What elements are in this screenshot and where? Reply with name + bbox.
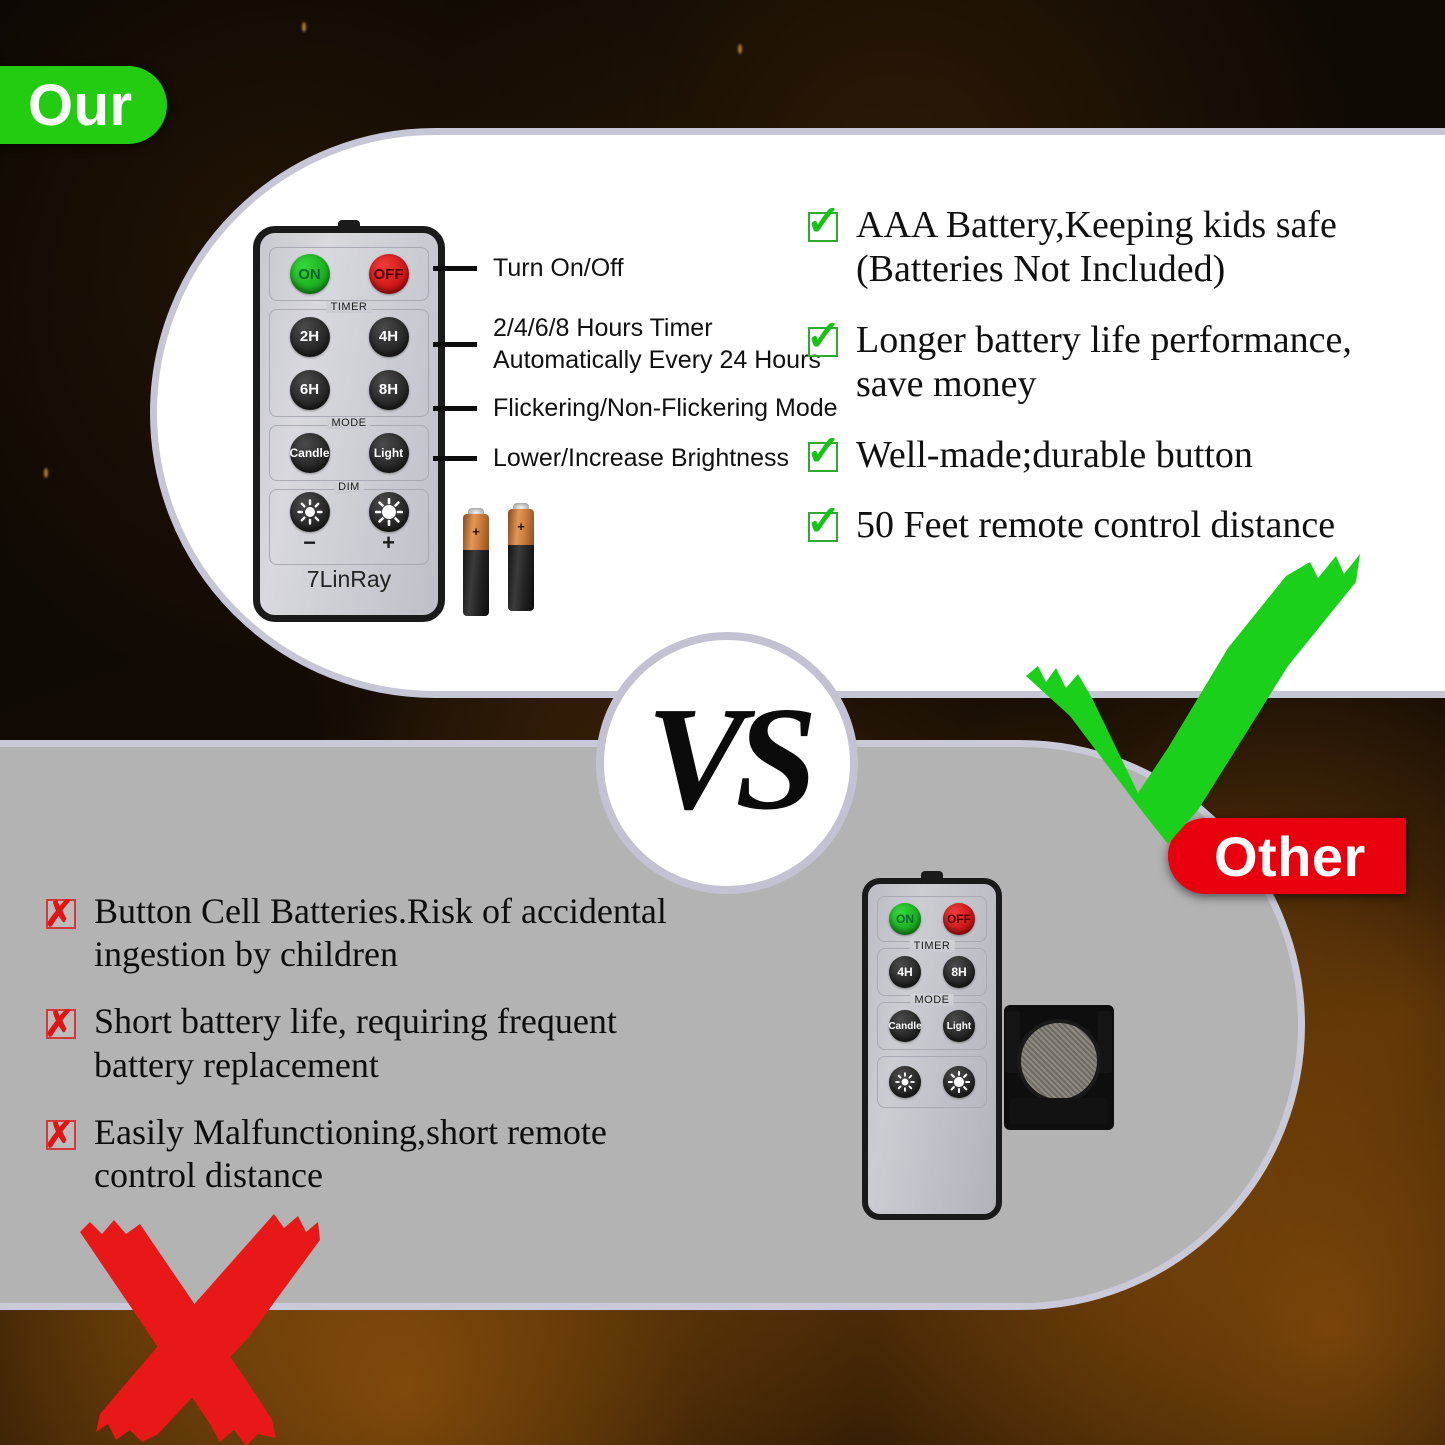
holder-foot	[1010, 1098, 1108, 1124]
callout-leader-line	[433, 406, 477, 411]
callout-line: Flickering/Non-Flickering Mode	[493, 393, 838, 425]
timer-group: TIMER 4H 8H	[877, 948, 987, 996]
remote-ir-nub	[338, 220, 360, 229]
con-line: Easily Malfunctioning,short remote	[94, 1111, 607, 1154]
feature-line: Longer battery life performance,	[856, 318, 1352, 362]
dim-up-button[interactable]	[943, 1066, 975, 1098]
green-check-brush-icon	[1018, 548, 1368, 858]
checkbox-check-icon: ✓	[806, 509, 844, 545]
power-group: ON OFF	[269, 247, 429, 301]
callout-leader-line	[433, 456, 477, 461]
list-item: ✓ 50 Feet remote control distance	[806, 503, 1436, 547]
dim-group: DIM	[269, 489, 429, 565]
list-item: ✗ Short battery life, requiring frequent…	[44, 1000, 764, 1086]
on-button[interactable]: ON	[290, 254, 330, 294]
con-line: battery replacement	[94, 1044, 617, 1087]
callout-leader-line	[433, 266, 477, 271]
red-cross-brush-icon	[62, 1198, 362, 1445]
battery-plus-icon: +	[463, 524, 489, 539]
coin-cell-battery	[1004, 1005, 1114, 1130]
feature-line: 50 Feet remote control distance	[856, 503, 1335, 547]
timer-6h-button[interactable]: 6H	[290, 370, 330, 410]
battery-body	[508, 545, 534, 611]
coin-cell	[1017, 1019, 1101, 1103]
timer-group-label: TIMER	[327, 301, 372, 313]
con-line: ingestion by children	[94, 933, 667, 976]
list-item: ✗ Easily Malfunctioning,short remote con…	[44, 1111, 764, 1197]
feature-line: (Batteries Not Included)	[856, 247, 1337, 291]
dim-group-label: DIM	[334, 481, 364, 493]
remote-ir-nub	[921, 871, 943, 880]
sun-small-icon	[297, 499, 323, 525]
other-remote-control: ON OFF TIMER 4H 8H MODE Candle Light	[862, 878, 1002, 1220]
callout-timer: 2/4/6/8 Hours Timer Automatically Every …	[433, 313, 821, 376]
background-sparkle	[302, 22, 306, 32]
power-group: ON OFF	[877, 896, 987, 942]
dim-group	[877, 1056, 987, 1108]
on-button[interactable]: ON	[889, 903, 921, 935]
list-item: ✓ AAA Battery,Keeping kids safe (Batteri…	[806, 203, 1436, 292]
aaa-battery: +	[463, 512, 489, 616]
dim-down-button[interactable]: −	[290, 492, 330, 532]
candle-mode-button[interactable]: Candle	[889, 1010, 921, 1042]
our-badge: Our	[0, 66, 167, 144]
remote-brand-label: 7LinRay	[260, 566, 438, 593]
callout-dim: Lower/Increase Brightness	[433, 443, 789, 475]
off-button[interactable]: OFF	[369, 254, 409, 294]
callout-line: Turn On/Off	[493, 253, 624, 285]
timer-2h-button[interactable]: 2H	[290, 317, 330, 357]
light-mode-button[interactable]: Light	[943, 1010, 975, 1042]
list-item: ✓ Well-made;durable button	[806, 433, 1436, 477]
sun-large-icon	[375, 498, 403, 526]
timer-8h-button[interactable]: 8H	[369, 370, 409, 410]
dim-plus-label: +	[369, 530, 409, 556]
vs-label: VS	[646, 685, 807, 833]
callout-line: 2/4/6/8 Hours Timer	[493, 313, 821, 345]
our-remote-control: ON OFF TIMER 2H 4H 6H 8H MODE Candle	[253, 226, 445, 622]
checkbox-cross-icon: ✗	[44, 1006, 82, 1042]
pros-list: ✓ AAA Battery,Keeping kids safe (Batteri…	[806, 203, 1436, 574]
callout-power: Turn On/Off	[433, 253, 624, 285]
checkbox-check-icon: ✓	[806, 209, 844, 245]
mode-group-label: MODE	[911, 994, 954, 1006]
callout-line: Automatically Every 24 Hours	[493, 345, 821, 377]
feature-line: save money	[856, 362, 1352, 406]
feature-line: Well-made;durable button	[856, 433, 1253, 477]
mode-group: MODE Candle Light	[877, 1002, 987, 1050]
feature-line: AAA Battery,Keeping kids safe	[856, 203, 1337, 247]
callout-line: Lower/Increase Brightness	[493, 443, 789, 475]
timer-group-label: TIMER	[910, 940, 955, 952]
list-item: ✗ Button Cell Batteries.Risk of accident…	[44, 890, 764, 976]
aaa-battery: +	[508, 507, 534, 611]
off-button[interactable]: OFF	[943, 903, 975, 935]
mode-group-label: MODE	[328, 417, 371, 429]
list-item: ✓ Longer battery life performance, save …	[806, 318, 1436, 407]
con-line: Short battery life, requiring frequent	[94, 1000, 617, 1043]
timer-group: TIMER 2H 4H 6H 8H	[269, 309, 429, 417]
dim-minus-label: −	[290, 530, 330, 556]
callout-leader-line	[433, 342, 477, 347]
our-badge-label: Our	[28, 72, 133, 139]
dim-up-button[interactable]: +	[369, 492, 409, 532]
battery-plus-icon: +	[508, 519, 534, 534]
sun-small-icon	[895, 1072, 915, 1092]
con-line: control distance	[94, 1154, 607, 1197]
light-mode-button[interactable]: Light	[369, 433, 409, 473]
checkbox-check-icon: ✓	[806, 439, 844, 475]
checkbox-cross-icon: ✗	[44, 896, 82, 932]
callout-mode: Flickering/Non-Flickering Mode	[433, 393, 838, 425]
timer-8h-button[interactable]: 8H	[943, 956, 975, 988]
comparison-infographic: ON OFF TIMER 2H 4H 6H 8H MODE Candle	[0, 0, 1445, 1445]
timer-4h-button[interactable]: 4H	[889, 956, 921, 988]
sun-large-icon	[948, 1071, 970, 1093]
con-line: Button Cell Batteries.Risk of accidental	[94, 890, 667, 933]
checkbox-cross-icon: ✗	[44, 1117, 82, 1153]
background-sparkle	[738, 44, 742, 54]
candle-mode-button[interactable]: Candle	[290, 433, 330, 473]
mode-group: MODE Candle Light	[269, 425, 429, 481]
timer-4h-button[interactable]: 4H	[369, 317, 409, 357]
background-sparkle	[44, 468, 48, 478]
vs-badge: VS	[596, 632, 858, 894]
dim-down-button[interactable]	[889, 1066, 921, 1098]
checkbox-check-icon: ✓	[806, 324, 844, 360]
battery-body	[463, 550, 489, 616]
cons-list: ✗ Button Cell Batteries.Risk of accident…	[44, 890, 764, 1221]
